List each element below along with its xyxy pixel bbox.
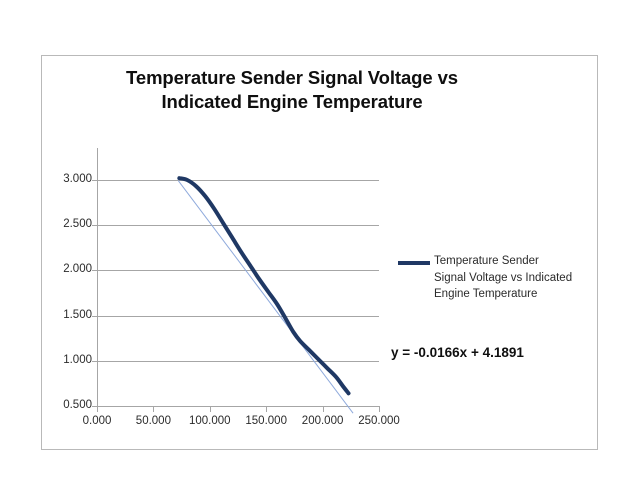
y-tick-label-0: 0.500 [44,400,92,412]
legend-label: Temperature Sender Signal Voltage vs Ind… [434,253,582,303]
legend-color-swatch [398,261,430,265]
slide-canvas: Temperature Sender Signal Voltage vs Ind… [0,0,640,494]
legend-label-line-1: Temperature Sender [434,253,582,270]
y-tick-label-4: 2.500 [44,219,92,231]
chart-title-line-2: Indicated Engine Temperature [82,90,502,114]
gridline-y-0 [97,406,379,407]
x-tick-0 [97,407,98,412]
y-tick-label-1: 1.000 [44,355,92,367]
plot-area [97,180,379,406]
trendline-path [178,181,353,414]
legend-label-line-2: Signal Voltage vs Indicated [434,270,582,287]
data-series-path[interactable] [179,178,348,393]
legend-label-line-3: Engine Temperature [434,286,582,303]
chart-title: Temperature Sender Signal Voltage vs Ind… [82,66,502,113]
x-tick-1 [153,407,154,412]
y-tick-label-2: 1.500 [44,310,92,322]
chart-frame[interactable]: Temperature Sender Signal Voltage vs Ind… [41,55,598,450]
x-tick-3 [266,407,267,412]
chart-title-line-1: Temperature Sender Signal Voltage vs [82,66,502,90]
y-tick-label-3: 2.000 [44,264,92,276]
x-tick-2 [210,407,211,412]
series-layer [97,180,379,406]
x-tick-label-5: 250.000 [344,416,414,428]
y-tick-label-5: 3.000 [44,174,92,186]
x-tick-4 [323,407,324,412]
x-tick-5 [379,407,380,412]
trendline-equation-label: y = -0.0166x + 4.1891 [391,345,524,360]
y-axis-labels: 0.5001.0001.5002.0002.5003.000 [42,56,92,451]
